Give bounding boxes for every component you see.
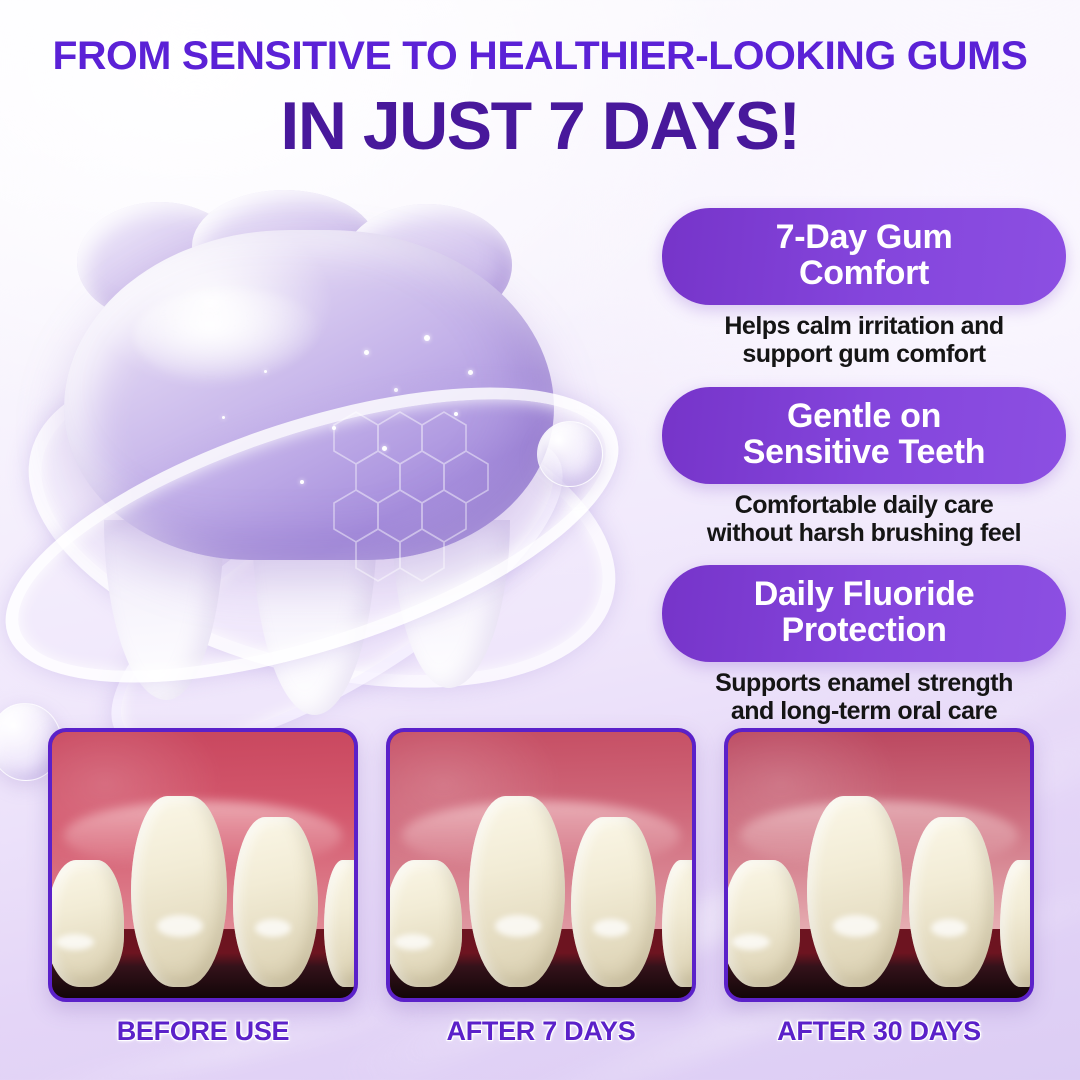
feature-description: Helps calm irritation and support gum co… (662, 312, 1066, 369)
gel-bead-icon (537, 421, 603, 487)
result-photo-after-30-days[interactable] (724, 728, 1034, 1002)
tooth-photo (1000, 860, 1034, 988)
results-caption-row: BEFORE USE AFTER 7 DAYS AFTER 30 DAYS (48, 1016, 1038, 1060)
feature-desc-line-1: Supports enamel strength (662, 669, 1066, 697)
clinical-gum-photo (390, 732, 692, 998)
feature-item-fluoride-protection: Daily Fluoride Protection Supports ename… (662, 565, 1066, 726)
tooth-photo (48, 860, 124, 988)
feature-list: 7-Day Gum Comfort Helps calm irritation … (662, 208, 1066, 744)
tooth-photo (469, 796, 566, 988)
headline-line-2: IN JUST 7 DAYS! (0, 87, 1080, 165)
feature-title-line-1: Daily Fluoride (680, 576, 1048, 612)
tooth-photo (807, 796, 904, 988)
sparkle-icon (364, 350, 369, 355)
feature-description: Comfortable daily care without harsh bru… (662, 491, 1066, 548)
tooth-highlight (134, 288, 324, 383)
sparkle-icon (222, 416, 225, 419)
tooth-photo (724, 860, 800, 988)
feature-item-gum-comfort: 7-Day Gum Comfort Helps calm irritation … (662, 208, 1066, 369)
tooth-photo (386, 860, 462, 988)
feature-pill[interactable]: Daily Fluoride Protection (662, 565, 1066, 662)
feature-title-line-2: Comfort (680, 255, 1048, 291)
result-photo-after-7-days[interactable] (386, 728, 696, 1002)
tooth-photo (662, 860, 696, 988)
tooth-photo (571, 817, 656, 987)
sparkle-icon (468, 370, 473, 375)
caption-after-7-days: AFTER 7 DAYS (386, 1016, 696, 1047)
feature-title-line-1: Gentle on (680, 398, 1048, 434)
result-photo-before-use[interactable] (48, 728, 358, 1002)
tooth-photo (324, 860, 358, 988)
headline-line-1: FROM SENSITIVE TO HEALTHIER-LOOKING GUMS (0, 34, 1080, 79)
feature-title-line-1: 7-Day Gum (680, 219, 1048, 255)
feature-title-line-2: Sensitive Teeth (680, 434, 1048, 470)
caption-before-use: BEFORE USE (48, 1016, 358, 1047)
clinical-gum-photo (728, 732, 1030, 998)
caption-after-30-days: AFTER 30 DAYS (724, 1016, 1034, 1047)
feature-pill[interactable]: 7-Day Gum Comfort (662, 208, 1066, 305)
feature-desc-line-2: without harsh brushing feel (662, 519, 1066, 547)
feature-desc-line-1: Helps calm irritation and (662, 312, 1066, 340)
feature-title-line-2: Protection (680, 612, 1048, 648)
clinical-gum-photo (52, 732, 354, 998)
feature-item-sensitive-teeth: Gentle on Sensitive Teeth Comfortable da… (662, 387, 1066, 548)
tooth-hero-illustration (0, 175, 682, 755)
sparkle-icon (264, 370, 267, 373)
sparkle-icon (424, 335, 430, 341)
feature-desc-line-2: support gum comfort (662, 340, 1066, 368)
results-photo-row (48, 728, 1038, 1002)
feature-desc-line-1: Comfortable daily care (662, 491, 1066, 519)
feature-description: Supports enamel strength and long-term o… (662, 669, 1066, 726)
tooth-photo (233, 817, 318, 987)
headline-block: FROM SENSITIVE TO HEALTHIER-LOOKING GUMS… (0, 34, 1080, 165)
tooth-photo (131, 796, 228, 988)
sparkle-icon (394, 388, 398, 392)
feature-desc-line-2: and long-term oral care (662, 697, 1066, 725)
tooth-photo (909, 817, 994, 987)
feature-pill[interactable]: Gentle on Sensitive Teeth (662, 387, 1066, 484)
